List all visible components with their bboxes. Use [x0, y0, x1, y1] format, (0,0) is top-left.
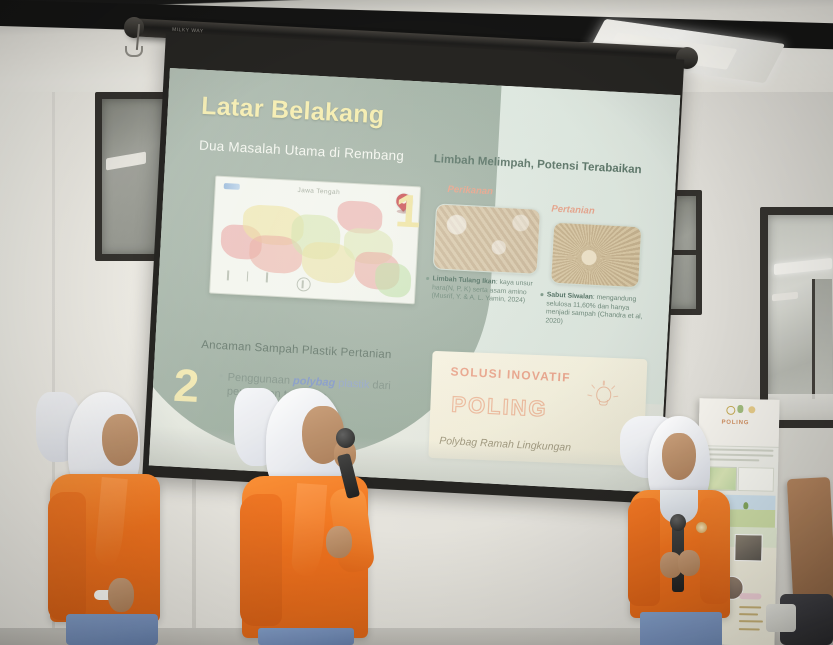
blazer-sleeve — [48, 492, 86, 620]
blazer-sleeve-left — [240, 494, 282, 626]
bulb-base — [599, 399, 608, 405]
microphone-head — [670, 514, 686, 531]
solution-brand: POLING — [451, 392, 549, 423]
adjacent-room-door — [812, 279, 832, 399]
map-region-label: Jawa Tengah — [297, 187, 340, 196]
central-java-map: Jawa Tengah — [209, 176, 421, 304]
caption-pertanian: Pertanian — [551, 204, 595, 217]
right-wall-window — [760, 207, 833, 428]
wooden-chair — [787, 477, 833, 601]
adjacent-room-light-2 — [772, 292, 798, 302]
projector-screen: Latar Belakang Dua Masalah Utama di Remb… — [149, 68, 680, 493]
face — [102, 414, 138, 466]
presenter-right — [620, 416, 742, 645]
poster-legend-box — [738, 467, 774, 492]
map-scale-bar — [227, 270, 297, 288]
presenter-center — [234, 388, 409, 645]
hand — [108, 578, 134, 612]
blazer-sleeve-right — [700, 498, 730, 604]
bullet-palm-fiber: Sabut Siwalan: mengandung selulosa 11,60… — [545, 291, 654, 331]
bullet-dot — [426, 277, 429, 280]
adjacent-room-light — [774, 258, 832, 275]
point-two-highlight-polybag: polybag — [293, 375, 336, 389]
bullet-lead: Sabut Siwalan — [547, 291, 593, 300]
bullet-dot — [541, 293, 544, 296]
blue-skirt — [258, 628, 354, 645]
roller-hook — [125, 46, 143, 57]
blazer-badge — [696, 522, 707, 533]
blue-skirt — [640, 612, 722, 645]
slide-canvas: Latar Belakang Dua Masalah Utama di Remb… — [149, 68, 680, 493]
map-province-9 — [374, 262, 413, 299]
map-compass-icon — [296, 277, 311, 292]
hand-left — [326, 526, 352, 558]
fish-bone-photo — [433, 204, 541, 275]
lightbulb-icon — [592, 383, 615, 410]
blazer-sleeve-left — [628, 498, 660, 606]
presentation-photo-scene: MILKY WAY Latar Belakang Dua Masalah Uta… — [0, 0, 833, 645]
point-two-text-1: Penggunaan — [227, 371, 290, 386]
presenter-left — [36, 392, 186, 645]
point-one-number: 1 — [394, 188, 422, 235]
face — [662, 433, 696, 480]
hand-right — [678, 550, 700, 576]
map-provider-logo — [224, 183, 240, 190]
window-light-reflection — [106, 151, 146, 170]
palm-fiber-photo — [550, 222, 642, 288]
blue-skirt — [66, 614, 158, 645]
bullet-dot — [220, 374, 223, 377]
bag — [766, 604, 796, 632]
caption-perikanan: Perikanan — [447, 184, 493, 197]
